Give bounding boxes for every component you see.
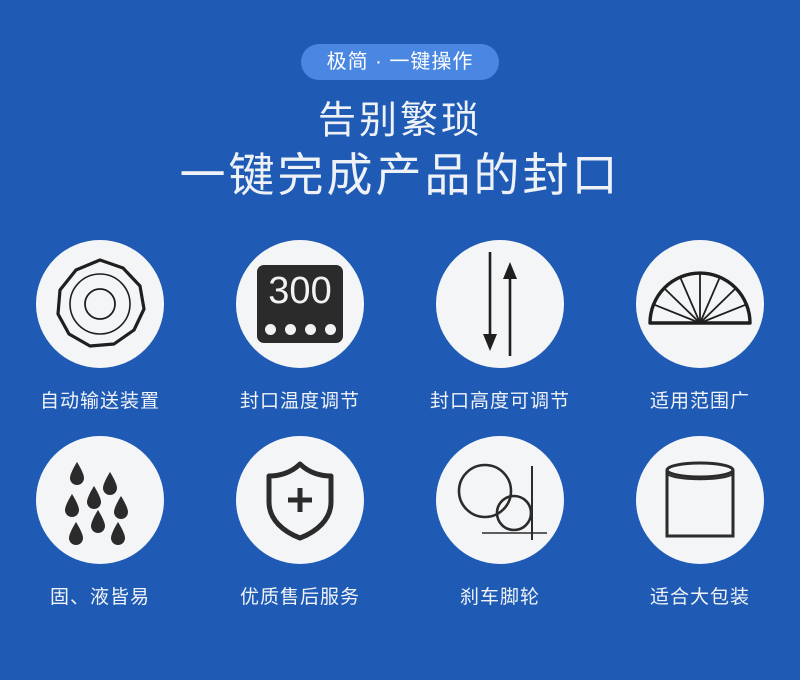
feature-label: 固、液皆易 xyxy=(50,586,150,610)
feature-item: 适用范围广 xyxy=(600,240,800,414)
feature-label: 自动输送装置 xyxy=(40,390,160,414)
feature-label: 封口高度可调节 xyxy=(430,390,570,414)
feature-item: 刹车脚轮 xyxy=(400,436,600,610)
feature-label: 优质售后服务 xyxy=(240,586,360,610)
headline-line-2: 一键完成产品的封口 xyxy=(0,146,800,204)
indicator-dot xyxy=(325,324,336,335)
feature-icon-circle xyxy=(36,436,164,564)
indicator-dot xyxy=(285,324,296,335)
feature-icon-circle xyxy=(636,240,764,368)
feature-row: 固、液皆易 优质售后服务 xyxy=(0,436,800,610)
indicator-dots xyxy=(257,324,343,335)
feature-grid: 自动输送装置 300 封口温度调节 xyxy=(0,240,800,610)
feature-item: 封口高度可调节 xyxy=(400,240,600,414)
feature-item: 自动输送装置 xyxy=(0,240,200,414)
feature-label: 适合大包装 xyxy=(650,586,750,610)
headline-block: 告别繁琐 一键完成产品的封口 xyxy=(0,98,800,204)
feature-icon-circle xyxy=(636,436,764,564)
feature-icon-circle xyxy=(436,436,564,564)
feature-icon-circle xyxy=(36,240,164,368)
water-droplets-icon xyxy=(50,450,150,550)
feature-label: 刹车脚轮 xyxy=(460,586,540,610)
temperature-value: 300 xyxy=(257,267,343,315)
promo-page: 极简 · 一键操作 告别繁琐 一键完成产品的封口 自动输送装置 xyxy=(0,0,800,680)
feature-item: 适合大包装 xyxy=(600,436,800,610)
caster-wheel-icon xyxy=(448,448,552,552)
indicator-dot xyxy=(305,324,316,335)
rotary-turntable-icon xyxy=(48,252,152,356)
indicator-dot xyxy=(265,324,276,335)
temperature-display-icon: 300 xyxy=(257,265,343,343)
feature-label: 适用范围广 xyxy=(650,390,750,414)
headline-line-1: 告别繁琐 xyxy=(0,98,800,144)
fan-semicircle-icon xyxy=(645,249,755,359)
feature-item: 固、液皆易 xyxy=(0,436,200,610)
feature-icon-circle xyxy=(236,436,364,564)
feature-label: 封口温度调节 xyxy=(240,390,360,414)
badge-row: 极简 · 一键操作 xyxy=(0,44,800,80)
package-bag-icon xyxy=(650,450,750,550)
shield-plus-icon xyxy=(256,456,344,544)
feature-item: 300 封口温度调节 xyxy=(200,240,400,414)
up-down-arrows-icon xyxy=(448,248,552,360)
feature-icon-circle xyxy=(436,240,564,368)
feature-item: 优质售后服务 xyxy=(200,436,400,610)
feature-row: 自动输送装置 300 封口温度调节 xyxy=(0,240,800,414)
feature-icon-circle: 300 xyxy=(236,240,364,368)
tagline-badge: 极简 · 一键操作 xyxy=(301,44,500,80)
